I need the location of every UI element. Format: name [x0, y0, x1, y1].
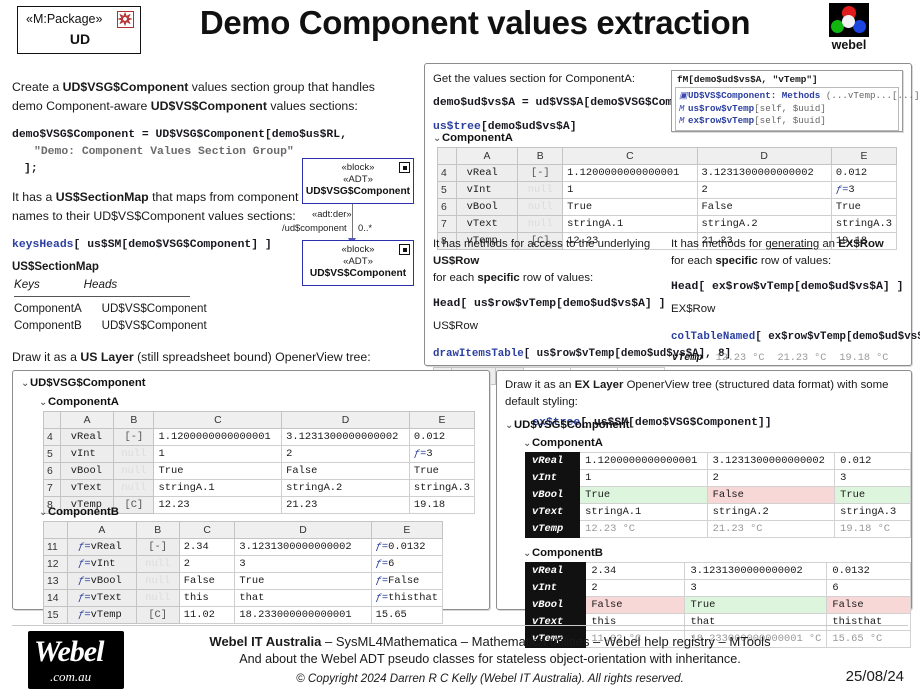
cell-c: stringA.1	[154, 480, 282, 497]
tree-node-componenta[interactable]: ⌄ComponentA	[433, 132, 513, 144]
table-row: 13 ƒ=vBool null False True ƒ=False	[44, 573, 443, 590]
webel-footer-logo: Webel .com.au	[28, 631, 124, 689]
cell-c: 2	[179, 556, 235, 573]
block-stereotype-2: «ADT»	[303, 256, 413, 268]
footer-line-1: Webel IT Australia – SysML4Mathematica –…	[140, 634, 840, 649]
cell-head: UD$VS$Component	[84, 301, 207, 316]
cell-e: ƒ=3	[831, 182, 896, 199]
componenta-spreadsheet-top: A B C D E 4 vReal [-] 1.1200000000000001…	[437, 147, 897, 250]
cell-2: True	[835, 487, 911, 504]
cell-0: False	[586, 597, 685, 614]
block-stereotype-1: «block»	[303, 162, 413, 174]
cell-key: ComponentB	[14, 318, 82, 333]
row-number: 4	[44, 429, 61, 446]
text-frag: that maps from component	[149, 190, 299, 204]
cell-d: False	[697, 199, 831, 216]
cell-0: 2.34	[586, 563, 685, 580]
brand-label: webel	[820, 38, 878, 52]
adt-block-diagram: «block» «ADT» UD$VSG$Component «adt:der»…	[296, 158, 420, 286]
cell-c: stringA.1	[563, 216, 697, 233]
cell-d: 18.233000000000001	[235, 607, 371, 624]
tree-node-componenta[interactable]: ⌄ComponentA	[39, 396, 119, 408]
cell-key: vText	[526, 614, 586, 631]
table-row: 11 ƒ=vReal [-] 2.34 3.1231300000000002 ƒ…	[44, 539, 443, 556]
ex-layer-tree-panel: Draw it as an EX Layer OpenerView tree (…	[496, 370, 912, 610]
cell-name: ƒ=vText	[68, 590, 137, 607]
coltablenamed-output: vTemp 12.23 °C 21.23 °C 19.18 °C	[671, 352, 889, 365]
cell-1: that	[685, 614, 827, 631]
block-name: UD$VSG$Component	[303, 186, 413, 197]
table-row: vBool False True False	[526, 597, 911, 614]
cell-name: vInt	[456, 182, 518, 199]
cell-2: False	[827, 597, 911, 614]
term-udvs: UD$VS$Component	[151, 99, 267, 113]
edge-role: /ud$component	[282, 222, 347, 233]
cell-d: 2	[282, 446, 410, 463]
text-frag: Create a	[12, 80, 63, 94]
cell-unit: null	[136, 556, 179, 573]
cell-0: this	[586, 614, 685, 631]
cell-name: vText	[456, 216, 518, 233]
cell-d: True	[235, 573, 371, 590]
row-number: 6	[438, 199, 457, 216]
cell-e: ƒ=0.0132	[371, 539, 442, 556]
table-header-row: A B C D E	[44, 412, 475, 429]
chevron-down-icon[interactable]: ⌄	[523, 438, 532, 449]
cell-e: True	[409, 463, 474, 480]
cell-d: 3.1231300000000002	[282, 429, 410, 446]
table-row: 4 vReal [-] 1.1200000000000001 3.1231300…	[438, 165, 897, 182]
block-glyph-icon: ▣	[679, 90, 688, 103]
table-row: ComponentA UD$VS$Component	[14, 301, 207, 316]
cell-1: 3.1231300000000002	[707, 453, 835, 470]
row-number: 7	[438, 216, 457, 233]
table-row: vInt 2 3 6	[526, 580, 911, 597]
block-compartment-icon	[399, 244, 410, 255]
cell-key: vReal	[526, 563, 586, 580]
values-section-panel: Get the values section for ComponentA: d…	[424, 63, 912, 366]
term-udvsg: UD$VSG$Component	[63, 80, 189, 94]
cell-e: 0.012	[409, 429, 474, 446]
cell-unit: [-]	[136, 539, 179, 556]
cell-c: False	[179, 573, 235, 590]
cell-d: stringA.2	[282, 480, 410, 497]
cell-name: vReal	[60, 429, 114, 446]
cell-unit: null	[114, 480, 154, 497]
cell-name: ƒ=vBool	[68, 573, 137, 590]
cell-key: vText	[526, 504, 580, 521]
row-number: 15	[44, 607, 68, 624]
table-row: vInt 1 2 3	[526, 470, 911, 487]
cell-1: 3	[685, 580, 827, 597]
methods-query: fM[demo$ud$vs$A, "vTemp"]	[672, 71, 902, 87]
chevron-down-icon[interactable]: ⌄	[21, 378, 30, 389]
method-row[interactable]: Mus$row$vTemp[self, $uuid]	[679, 103, 895, 116]
cell-0: 1	[580, 470, 708, 487]
cell-unit: [-]	[114, 429, 154, 446]
package-box: «M:Package» UD	[17, 6, 141, 54]
tree-node-componentb[interactable]: ⌄ComponentB	[39, 506, 119, 518]
text-frag: (still spreadsheet bound) OpenerView tre…	[134, 350, 371, 364]
logo-wordmark: Webel	[34, 635, 103, 669]
output-exrow: EX$Row	[671, 301, 907, 318]
cell-key: ComponentA	[14, 301, 82, 316]
table-row: 4 vReal [-] 1.1200000000000001 3.1231300…	[44, 429, 475, 446]
cell-e: 19.18	[409, 497, 474, 514]
text-frag: Draw it as a	[12, 350, 80, 364]
code-line-1: demo$VSG$Component = UD$VSG$Component[de…	[12, 127, 412, 144]
webel-rgb-dots-icon	[829, 3, 869, 37]
cell-name: vBool	[60, 463, 114, 480]
table-row: vTemp 12.23 °C 21.23 °C 19.18 °C	[526, 521, 911, 538]
cell-unit: null	[518, 216, 563, 233]
cell-unit: [C]	[114, 497, 154, 514]
cell-1: 3.1231300000000002	[685, 563, 827, 580]
edge-multiplicity: 0..*	[358, 222, 372, 233]
row-number: 7	[44, 480, 61, 497]
col-c: C	[563, 148, 697, 165]
row-number: 5	[438, 182, 457, 199]
cell-d: False	[282, 463, 410, 480]
chevron-down-icon[interactable]: ⌄	[505, 420, 514, 431]
cell-key: vInt	[526, 470, 580, 487]
componenta-ex-table: vReal 1.1200000000000001 3.1231300000000…	[525, 452, 911, 538]
cell-c: True	[563, 199, 697, 216]
table-row: 5 vInt null 1 2 ƒ=3	[44, 446, 475, 463]
cell-e: ƒ=False	[371, 573, 442, 590]
edge-stereotype: «adt:der»	[312, 208, 352, 219]
cell-0: 1.1200000000000001	[580, 453, 708, 470]
cell-c: 12.23	[154, 497, 282, 514]
cell-1: True	[685, 597, 827, 614]
exrow-text-2: for each specific row of values:	[671, 253, 907, 270]
cell-unit: [C]	[136, 607, 179, 624]
table-row: vReal 1.1200000000000001 3.1231300000000…	[526, 453, 911, 470]
table-row: vText this that thisthat	[526, 614, 911, 631]
logo-tld: .com.au	[50, 669, 91, 685]
row-number: 11	[44, 539, 68, 556]
cell-name: vBool	[456, 199, 518, 216]
tree-node-componentb[interactable]: ⌄ComponentB	[523, 547, 603, 559]
code-head-exrow: Head[ ex$row$vTemp[demo$ud$vs$A] ]	[671, 279, 907, 296]
block-udvsg-component: «block» «ADT» UD$VSG$Component	[302, 158, 414, 204]
table-row: 7 vText null stringA.1 stringA.2 stringA…	[44, 480, 475, 497]
cell-key: vBool	[526, 597, 586, 614]
block-stereotype-1: «block»	[303, 244, 413, 256]
text-frag: It has a	[12, 190, 56, 204]
row-number: 6	[44, 463, 61, 480]
table-row: 15 ƒ=vTemp [C] 11.02 18.233000000000001 …	[44, 607, 443, 624]
cell-c: 1	[563, 182, 697, 199]
cell-2: 6	[827, 580, 911, 597]
usrow-subpanel: It has methods for access to the underly…	[433, 236, 665, 385]
wolfram-spikey-icon	[117, 11, 134, 28]
cell-0: True	[580, 487, 708, 504]
cell-d: 3.1231300000000002	[697, 165, 831, 182]
cell-c: this	[179, 590, 235, 607]
block-name: UD$VS$Component	[303, 268, 413, 279]
cell-1: stringA.2	[707, 504, 835, 521]
code-drawitemstable: drawItemsTable[ us$row$vTemp[demo$ud$vs$…	[433, 346, 665, 363]
cell-e: ƒ=3	[409, 446, 474, 463]
term-uslayer: US Layer	[80, 350, 133, 364]
cell-c: 1.1200000000000001	[154, 429, 282, 446]
corner-cell	[44, 412, 61, 429]
chevron-down-icon[interactable]: ⌄	[39, 507, 48, 518]
cell-2: 0.0132	[827, 563, 911, 580]
chevron-down-icon[interactable]: ⌄	[433, 133, 442, 144]
method-glyph-icon: M	[679, 103, 688, 116]
cell-name: ƒ=vInt	[68, 556, 137, 573]
table-header-row: Keys Heads	[14, 278, 207, 293]
cell-key: vBool	[526, 487, 580, 504]
package-stereotype: «M:Package»	[26, 12, 102, 26]
paragraph-5: Draw it as a US Layer (still spreadsheet…	[12, 348, 412, 367]
cell-d: 21.23 °C	[777, 352, 839, 365]
tree-node-componenta[interactable]: ⌄ComponentA	[523, 437, 603, 449]
cell-e: ƒ=thisthat	[371, 590, 442, 607]
table-row: vBool True False True	[526, 487, 911, 504]
slide-header: «M:Package» UD Demo Component values ext…	[0, 0, 920, 62]
tree-node-root[interactable]: ⌄UD$VSG$Component	[21, 377, 146, 389]
corner-cell	[44, 522, 68, 539]
cell-unit: null	[136, 590, 179, 607]
block-udvs-component: «block» «ADT» UD$VS$Component	[302, 240, 414, 286]
cell-key: vInt	[526, 580, 586, 597]
text-frag: values sections:	[267, 99, 358, 113]
col-a: A	[456, 148, 518, 165]
text-frag: demo Component-aware	[12, 99, 151, 113]
cell-1: 2	[707, 470, 835, 487]
col-e: E	[371, 522, 442, 539]
cell-0: stringA.1	[580, 504, 708, 521]
col-b: B	[114, 412, 154, 429]
cell-e: 0.012	[831, 165, 896, 182]
cell-c: 1	[154, 446, 282, 463]
block-compartment-icon	[399, 162, 410, 173]
row-number: 13	[44, 573, 68, 590]
cell-d: 2	[697, 182, 831, 199]
col-d: D	[697, 148, 831, 165]
cell-2: 3	[835, 470, 911, 487]
paragraph-2: demo Component-aware UD$VS$Component val…	[12, 97, 412, 116]
cell-2: 19.18 °C	[835, 521, 911, 538]
table-row: vText stringA.1 stringA.2 stringA.3	[526, 504, 911, 521]
footer-copyright: © Copyright 2024 Darren R C Kelly (Webel…	[140, 672, 840, 685]
cell-unit: null	[114, 446, 154, 463]
table-rule	[14, 296, 190, 297]
col-a: A	[60, 412, 114, 429]
cell-d: 3	[235, 556, 371, 573]
footer-divider	[12, 625, 908, 626]
webel-brand: webel	[820, 3, 878, 52]
cell-unit: [-]	[518, 165, 563, 182]
cell-c: 2.34	[179, 539, 235, 556]
row-number: 5	[44, 446, 61, 463]
row-number: 12	[44, 556, 68, 573]
cell-e: 15.65	[371, 607, 442, 624]
col-b: B	[136, 522, 179, 539]
cell-unit: null	[114, 463, 154, 480]
method-row[interactable]: ▣UD$VS$Component: Methods (...vTemp...[.…	[679, 90, 895, 103]
table-row: vReal 2.34 3.1231300000000002 0.0132	[526, 563, 911, 580]
col-heads: Heads	[84, 278, 207, 293]
col-a: A	[68, 522, 137, 539]
table-row: 7 vText null stringA.1 stringA.2 stringA…	[438, 216, 897, 233]
cell-d: stringA.2	[697, 216, 831, 233]
cell-0: 12.23 °C	[580, 521, 708, 538]
cell-name: vReal	[456, 165, 518, 182]
cell-d: 3.1231300000000002	[235, 539, 371, 556]
cell-unit: null	[136, 573, 179, 590]
col-e: E	[409, 412, 474, 429]
method-row[interactable]: Mex$row$vTemp[self, $uuid]	[679, 115, 895, 128]
exrow-subpanel: It has methods for generating an EX$Row …	[671, 236, 907, 365]
cell-name: vTemp	[671, 352, 715, 365]
method-glyph-icon: M	[679, 115, 688, 128]
cell-head: UD$VS$Component	[84, 318, 207, 333]
table-row: vTemp 12.23 °C 21.23 °C 19.18 °C	[671, 352, 889, 365]
col-e: E	[831, 148, 896, 165]
cell-e: True	[831, 199, 896, 216]
usrow-text-1: It has methods for access to the underly…	[433, 236, 665, 270]
table-row: 6 vBool null True False True	[438, 199, 897, 216]
paragraph-1: Create a UD$VSG$Component values section…	[12, 78, 412, 97]
cell-c: True	[154, 463, 282, 480]
association-line	[352, 204, 353, 240]
cell-1: False	[707, 487, 835, 504]
cell-name: vInt	[60, 446, 114, 463]
cell-c: 11.02	[179, 607, 235, 624]
cell-c: 12.23 °C	[715, 352, 777, 365]
cell-0: 2	[586, 580, 685, 597]
cell-2: stringA.3	[835, 504, 911, 521]
package-name: UD	[18, 31, 142, 47]
chevron-down-icon[interactable]: ⌄	[39, 397, 48, 408]
table-header-row: A B C D E	[438, 148, 897, 165]
componenta-spreadsheet: A B C D E 4 vReal [-] 1.1200000000000001…	[43, 411, 475, 514]
output-usrow: US$Row	[433, 318, 665, 335]
panel-intro: Get the values section for ComponentA:	[433, 71, 669, 88]
cell-unit: null	[518, 199, 563, 216]
col-d: D	[235, 522, 371, 539]
col-d: D	[282, 412, 410, 429]
usrow-text-2: for each specific row of values:	[433, 270, 665, 287]
cell-c: 1.1200000000000001	[563, 165, 697, 182]
keysheads-table: Keys Heads ComponentA UD$VS$Component Co…	[12, 276, 209, 335]
col-c: C	[154, 412, 282, 429]
col-c: C	[179, 522, 235, 539]
col-keys: Keys	[14, 278, 82, 293]
tree-node-root[interactable]: ⌄UD$VSG$Component	[505, 419, 630, 431]
table-row: 12 ƒ=vInt null 2 3 ƒ=6	[44, 556, 443, 573]
cell-2: thisthat	[827, 614, 911, 631]
footer-line-2: And about the Webel ADT pseudo classes f…	[140, 652, 840, 666]
cell-1: 21.23 °C	[707, 521, 835, 538]
row-number: 14	[44, 590, 68, 607]
cell-unit: null	[518, 182, 563, 199]
text-frag: values section group that handles	[188, 80, 375, 94]
table-header-row: A B C D E	[44, 522, 443, 539]
col-b: B	[518, 148, 563, 165]
exrow-text-1: It has methods for generating an EX$Row	[671, 236, 907, 253]
cell-key: vReal	[526, 453, 580, 470]
table-row: 14 ƒ=vText null this that ƒ=thisthat	[44, 590, 443, 607]
chevron-down-icon[interactable]: ⌄	[523, 548, 532, 559]
term-sectionmap: US$SectionMap	[56, 190, 149, 204]
block-stereotype-2: «ADT»	[303, 174, 413, 186]
page-title: Demo Component values extraction	[150, 4, 800, 42]
table-row: 6 vBool null True False True	[44, 463, 475, 480]
cell-e: stringA.3	[409, 480, 474, 497]
corner-cell	[438, 148, 457, 165]
table-row: ComponentB UD$VS$Component	[14, 318, 207, 333]
methods-list: ▣UD$VS$Component: Methods (...vTemp...[.…	[675, 87, 899, 131]
cell-e: ƒ=6	[371, 556, 442, 573]
cell-d: that	[235, 590, 371, 607]
cell-name: ƒ=vReal	[68, 539, 137, 556]
cell-e: stringA.3	[831, 216, 896, 233]
componentb-spreadsheet: A B C D E 11 ƒ=vReal [-] 2.34 3.12313000…	[43, 521, 443, 624]
us-layer-tree-panel: ⌄UD$VSG$Component ⌄ComponentA A B C D E …	[12, 370, 490, 610]
cell-e: 19.18 °C	[838, 352, 889, 365]
code-head-usrow: Head[ us$row$vTemp[demo$ud$vs$A] ]	[433, 296, 665, 313]
cell-key: vTemp	[526, 521, 580, 538]
methods-popup-box: fM[demo$ud$vs$A, "vTemp"] ▣UD$VS$Compone…	[671, 70, 903, 132]
code-coltablenamed: colTableNamed[ ex$row$vTemp[demo$ud$vs$A…	[671, 329, 907, 346]
footer-date: 25/08/24	[846, 668, 904, 685]
cell-d: 21.23	[282, 497, 410, 514]
code-getsection: demo$ud$vs$A = ud$VS$A[demo$VSG$Componen…	[433, 95, 669, 112]
cell-name: vText	[60, 480, 114, 497]
row-number: 4	[438, 165, 457, 182]
table-row: 5 vInt null 1 2 ƒ=3	[438, 182, 897, 199]
cell-name: ƒ=vTemp	[68, 607, 137, 624]
cell-2: 0.012	[835, 453, 911, 470]
